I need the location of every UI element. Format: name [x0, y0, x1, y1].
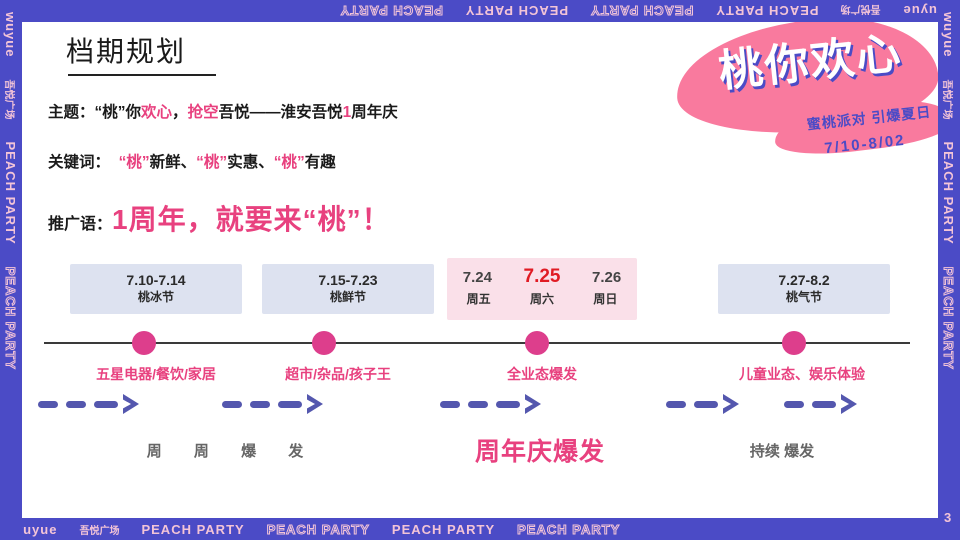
arrow-dash	[784, 401, 804, 408]
slide: wuyue 吾悦广场 PEACH PARTY PEACH PARTY PEACH…	[0, 0, 960, 540]
keyword-highlight-1: “桃”	[119, 154, 150, 171]
band-right-content: wuyue 吾悦广场 PEACH PARTY PEACH PARTY	[938, 0, 960, 540]
phase-box-3: 7.27-8.2 桃气节	[718, 264, 890, 314]
campaign-text: PEACH PARTY	[141, 522, 244, 537]
campaign-text-outline: PEACH PARTY	[590, 4, 693, 19]
keyword-text-1: 新鲜、	[150, 154, 197, 171]
arrow-dash	[38, 401, 58, 408]
arrow-head-icon	[123, 394, 139, 414]
band-left-inner: wuyue 吾悦广场 PEACH PARTY PEACH PARTY	[4, 0, 19, 370]
campaign-text-outline: PEACH PARTY	[517, 522, 620, 537]
arrow-group-5	[784, 394, 857, 414]
weekend-date-2: 7.25	[524, 266, 561, 288]
brand-cn-text: 吾悦广场	[4, 79, 19, 119]
slogan-text: 1周年，就要来“桃”！	[112, 198, 391, 238]
timeline-dot-1	[132, 331, 156, 355]
campaign-text: PEACH PARTY	[715, 4, 818, 19]
page-title: 档期规划	[66, 30, 186, 70]
slide-canvas: 档期规划 主题：“桃”你欢心，抢空吾悦——淮安吾悦1周年庆 关键词： “桃”新鲜…	[22, 22, 938, 518]
timeline-axis	[44, 342, 910, 344]
campaign-text: PEACH PARTY	[392, 522, 495, 537]
phase-name-2: 桃鲜节	[262, 289, 434, 306]
weekend-box: 7.24 7.25 7.26 周五 周六 周日	[447, 258, 637, 320]
weekend-date-1: 7.24	[463, 269, 492, 286]
phase-date-3: 7.27-8.2	[718, 271, 890, 289]
arrow-head-icon	[307, 394, 323, 414]
weekend-date-3: 7.26	[592, 269, 621, 286]
arrow-dash	[496, 401, 520, 408]
arrow-group-1	[38, 394, 139, 414]
decorative-band-left: wuyue 吾悦广场 PEACH PARTY PEACH PARTY	[0, 0, 22, 540]
arrow-group-2	[222, 394, 323, 414]
band-right-inner: wuyue 吾悦广场 PEACH PARTY PEACH PARTY	[942, 0, 957, 370]
phase-box-2: 7.15-7.23 桃鲜节	[262, 264, 434, 314]
campaign-text-outline: PEACH PARTY	[340, 4, 443, 19]
arrow-dash	[694, 401, 718, 408]
weekend-dates-row: 7.24 7.25 7.26	[447, 266, 637, 288]
band-left-content: wuyue 吾悦广场 PEACH PARTY PEACH PARTY	[0, 0, 22, 540]
weekend-category: 全业态爆发	[442, 364, 642, 384]
theme-highlight-3: 1	[343, 104, 352, 121]
arrow-dash	[250, 401, 270, 408]
campaign-text-outline: PEACH PARTY	[267, 522, 370, 537]
campaign-text: PEACH PARTY	[465, 4, 568, 19]
arrow-dash	[66, 401, 86, 408]
slogan-line: 推广语：1周年，就要来“桃”！	[48, 198, 391, 238]
keyword-highlight-3: “桃”	[274, 154, 305, 171]
timeline-dot-4	[782, 331, 806, 355]
phase-name-3: 桃气节	[718, 289, 890, 306]
brand-latin-text: wuyue	[4, 12, 19, 57]
slogan-label: 推广语：	[48, 210, 112, 234]
arrow-head-icon	[525, 394, 541, 414]
brand-cn-text: 吾悦广场	[79, 522, 119, 537]
weekend-weekday-3: 周日	[593, 290, 617, 307]
arrow-dash	[468, 401, 488, 408]
page-number: 3	[944, 510, 951, 525]
theme-part-3: 吾悦——淮安吾悦	[219, 104, 343, 121]
arrow-dash	[222, 401, 242, 408]
arrow-dash	[94, 401, 118, 408]
arrow-head-icon	[723, 394, 739, 414]
timeline-footer-2: 周年庆爆发	[420, 432, 660, 468]
arrow-group-4	[666, 394, 739, 414]
weekend-weekdays-row: 周五 周六 周日	[447, 290, 637, 307]
theme-part-1: “桃”你	[95, 104, 142, 121]
campaign-text: PEACH PARTY	[942, 141, 957, 244]
campaign-text: PEACH PARTY	[4, 141, 19, 244]
keyword-highlight-2: “桃”	[196, 154, 227, 171]
campaign-logo: 桃你欢心 蜜桃派对 引爆夏日 7/10-8/02	[654, 22, 938, 184]
phase-date-2: 7.15-7.23	[262, 271, 434, 289]
keyword-label: 关键词：	[48, 154, 110, 171]
decorative-band-bottom: wuyue 吾悦广场 PEACH PARTY PEACH PARTY PEACH…	[0, 518, 960, 540]
band-top-content: wuyue 吾悦广场 PEACH PARTY PEACH PARTY PEACH…	[340, 4, 960, 19]
arrow-dash	[440, 401, 460, 408]
campaign-text-outline: PEACH PARTY	[942, 267, 957, 370]
weekend-weekday-1: 周五	[467, 290, 491, 307]
arrow-dash	[812, 401, 836, 408]
weekend-weekday-2: 周六	[530, 290, 554, 307]
keyword-text-3: 有趣	[305, 154, 336, 171]
timeline-footer-3: 持续 爆发	[682, 440, 882, 461]
arrow-group-3	[440, 394, 541, 414]
theme-line: 主题：“桃”你欢心，抢空吾悦——淮安吾悦1周年庆	[48, 100, 398, 122]
title-underline	[68, 74, 216, 76]
decorative-band-right: wuyue 吾悦广场 PEACH PARTY PEACH PARTY	[938, 0, 960, 540]
phase-category-2: 超市/杂品/孩子王	[218, 364, 458, 384]
timeline-footer-1: 周 周 爆 发	[102, 440, 362, 461]
keyword-line: 关键词： “桃”新鲜、“桃”实惠、“桃”有趣	[48, 150, 336, 172]
phase-date-1: 7.10-7.14	[70, 271, 242, 289]
phase-box-1: 7.10-7.14 桃冰节	[70, 264, 242, 314]
theme-label: 主题：	[48, 104, 95, 121]
phase-name-1: 桃冰节	[70, 289, 242, 306]
timeline: 7.10-7.14 桃冰节 五星电器/餐饮/家居 7.15-7.23 桃鲜节 超…	[22, 254, 938, 504]
brand-latin-text: wuyue	[942, 12, 957, 57]
theme-part-2: ，	[172, 104, 188, 121]
phase-category-3: 儿童业态、娱乐体验	[682, 364, 922, 384]
theme-part-4: 周年庆	[351, 104, 398, 121]
decorative-band-top: wuyue 吾悦广场 PEACH PARTY PEACH PARTY PEACH…	[0, 0, 960, 22]
arrow-dash	[278, 401, 302, 408]
arrow-dash	[666, 401, 686, 408]
brand-cn-text: 吾悦广场	[841, 4, 881, 19]
timeline-dot-2	[312, 331, 336, 355]
timeline-dot-3	[525, 331, 549, 355]
theme-highlight-2: 抢空	[188, 104, 219, 121]
brand-cn-text: 吾悦广场	[942, 79, 957, 119]
keyword-text-2: 实惠、	[227, 154, 274, 171]
campaign-text-outline: PEACH PARTY	[4, 267, 19, 370]
band-bottom-content: wuyue 吾悦广场 PEACH PARTY PEACH PARTY PEACH…	[0, 522, 620, 537]
theme-highlight-1: 欢心	[141, 104, 172, 121]
arrow-head-icon	[841, 394, 857, 414]
